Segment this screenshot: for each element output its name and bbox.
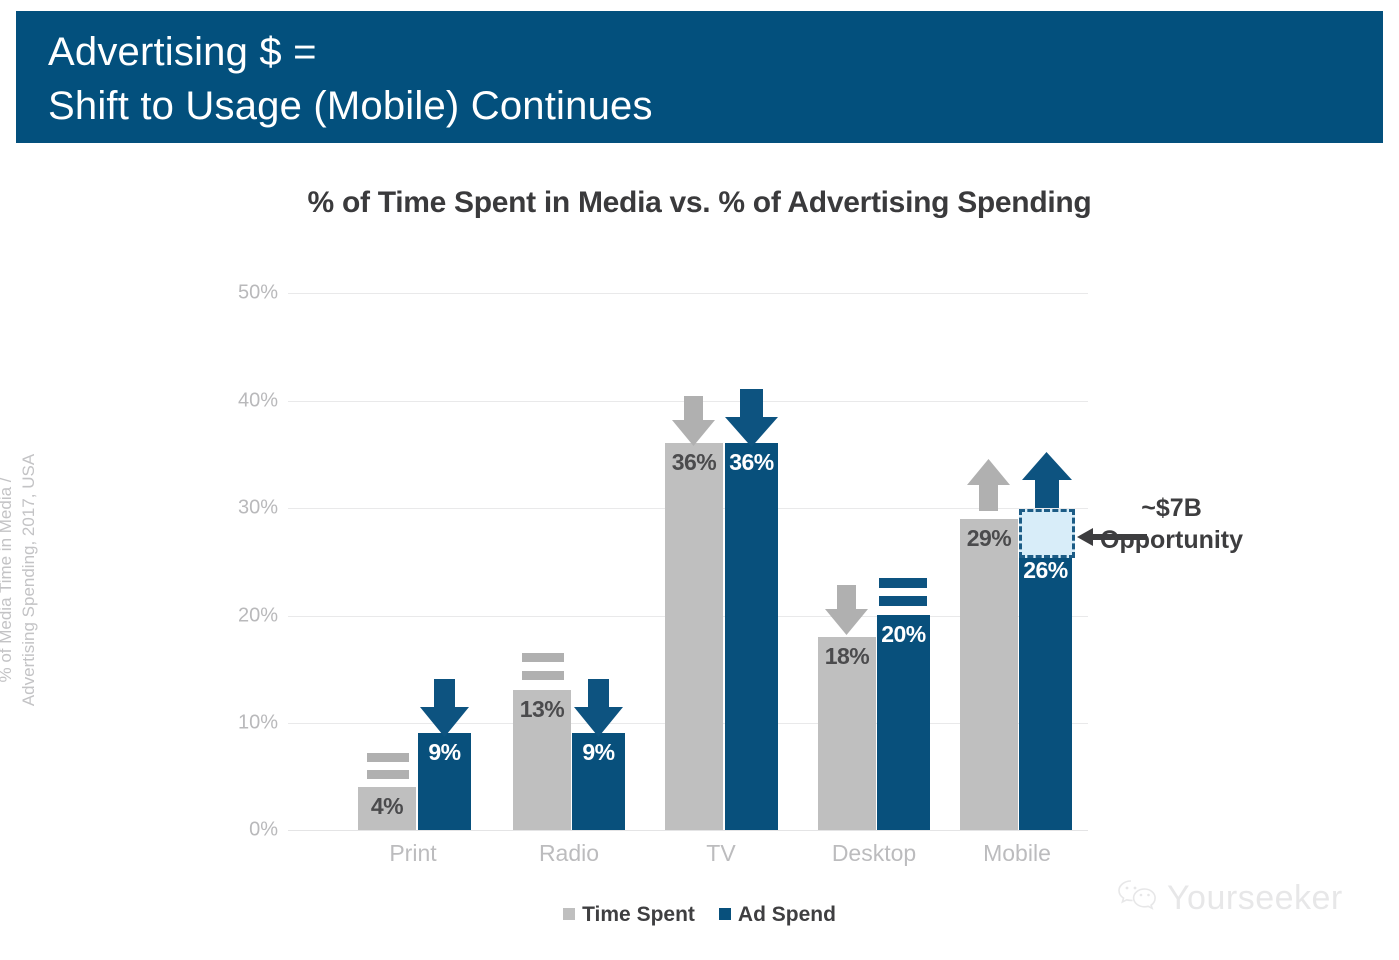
opportunity-label: Opportunity [1100,524,1243,556]
bar-label-time-spent-print: 4% [358,793,416,820]
legend-swatch-time-spent [563,908,575,920]
bar-label-time-spent-tv: 36% [665,449,723,476]
bar-time-spent-radio[interactable]: 13% [513,690,571,830]
legend-item-ad-spend[interactable]: Ad Spend [719,903,836,927]
arrow-down-icon-time-spent-desktop [823,585,870,637]
bar-time-spent-desktop[interactable]: 18% [818,637,876,830]
arrow-up-icon-ad-spend-mobile [1019,450,1074,510]
bar-label-ad-spend-mobile: 26% [1019,557,1072,584]
bar-label-ad-spend-tv: 36% [725,449,778,476]
bar-label-ad-spend-print: 9% [418,739,471,766]
bar-label-time-spent-mobile: 29% [960,525,1018,552]
bar-ad-spend-radio[interactable]: 9% [572,733,625,830]
bar-ad-spend-desktop[interactable]: 20% [877,615,930,830]
watermark-text: Yourseeker [1167,879,1343,918]
bar-label-time-spent-radio: 13% [513,696,571,723]
equals-icon-time-spent-print [367,752,409,782]
y-axis-title-line-1: % of Media Time in Media / [0,477,15,682]
equals-icon-time-spent-radio [522,652,564,684]
legend-label-ad-spend: Ad Spend [738,903,836,926]
opportunity-highlight-box [1019,509,1075,558]
y-tick-label-50: 50% [218,282,278,305]
y-tick-label-0: 0% [218,819,278,842]
opportunity-amount: ~$7B [1100,492,1243,524]
watermark: Yourseeker [1117,878,1343,919]
y-axis-ticks: 50% 40% 30% 20% 10% 0% [212,0,278,960]
arrow-down-icon-ad-spend-print [418,679,471,739]
bar-ad-spend-tv[interactable]: 36% [725,443,778,830]
opportunity-callout-text: ~$7B Opportunity [1100,492,1243,556]
arrow-down-icon-time-spent-tv [670,396,717,448]
y-tick-label-30: 30% [218,497,278,520]
bar-label-ad-spend-desktop: 20% [877,621,930,648]
x-axis-label-desktop: Desktop [799,840,949,867]
bar-ad-spend-mobile[interactable]: 26% [1019,551,1072,830]
x-axis-label-radio: Radio [494,840,644,867]
x-axis-label-mobile: Mobile [942,840,1092,867]
bar-label-time-spent-desktop: 18% [818,643,876,670]
gridline-50 [288,293,1088,294]
equals-icon-ad-spend-desktop [879,577,927,609]
legend-swatch-ad-spend [719,908,731,920]
arrow-down-icon-ad-spend-radio [572,679,625,739]
legend-item-time-spent[interactable]: Time Spent [563,903,695,927]
x-axis-label-tv: TV [646,840,796,867]
arrow-up-icon-time-spent-mobile [965,457,1012,513]
gridline-0 [288,830,1088,831]
wechat-icon [1117,878,1159,919]
legend-label-time-spent: Time Spent [582,903,695,926]
y-axis-title-line-2: Advertising Spending, 2017, USA [19,454,38,706]
y-tick-label-40: 40% [218,390,278,413]
arrow-down-icon-ad-spend-tv [723,389,780,449]
bar-time-spent-print[interactable]: 4% [358,787,416,830]
chart-container: % of Time Spent in Media vs. % of Advert… [0,0,1399,960]
bar-label-ad-spend-radio: 9% [572,739,625,766]
bar-time-spent-mobile[interactable]: 29% [960,519,1018,830]
bar-time-spent-tv[interactable]: 36% [665,443,723,830]
bar-ad-spend-print[interactable]: 9% [418,733,471,830]
y-tick-label-10: 10% [218,712,278,735]
x-axis-label-print: Print [338,840,488,867]
y-tick-label-20: 20% [218,605,278,628]
y-axis-title: % of Media Time in Media / Advertising S… [0,340,40,820]
chart-title: % of Time Spent in Media vs. % of Advert… [0,186,1399,220]
